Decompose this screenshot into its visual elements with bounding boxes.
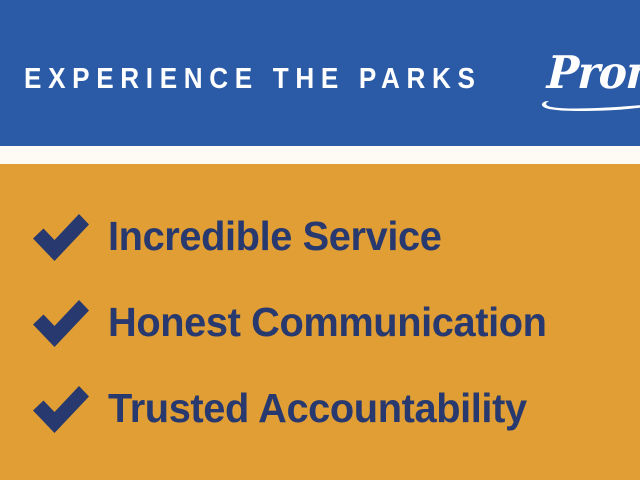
divider-band	[0, 146, 640, 164]
headline-script-group: Promise	[546, 50, 640, 95]
check-icon	[30, 296, 92, 348]
headline-script-text: Promise	[546, 50, 640, 95]
check-icon	[30, 382, 92, 434]
promise-banner: EXPERIENCE THE PARKS Promise Incredible …	[0, 0, 640, 480]
promise-item-label: Trusted Accountability	[108, 386, 527, 430]
promise-item: Honest Communication	[0, 279, 640, 365]
check-icon	[30, 210, 92, 262]
script-swash-underline	[540, 97, 640, 112]
promise-item: Incredible Service	[0, 193, 640, 279]
promise-list: Incredible Service Honest Communication …	[0, 164, 640, 451]
headline-main-text: EXPERIENCE THE PARKS	[24, 65, 482, 94]
promise-item-label: Incredible Service	[108, 214, 441, 258]
promise-item: Trusted Accountability	[0, 365, 640, 451]
promise-band: Incredible Service Honest Communication …	[0, 164, 640, 480]
promise-item-label: Honest Communication	[108, 300, 547, 344]
header-band: EXPERIENCE THE PARKS Promise	[0, 0, 640, 146]
headline: EXPERIENCE THE PARKS Promise	[24, 50, 640, 106]
